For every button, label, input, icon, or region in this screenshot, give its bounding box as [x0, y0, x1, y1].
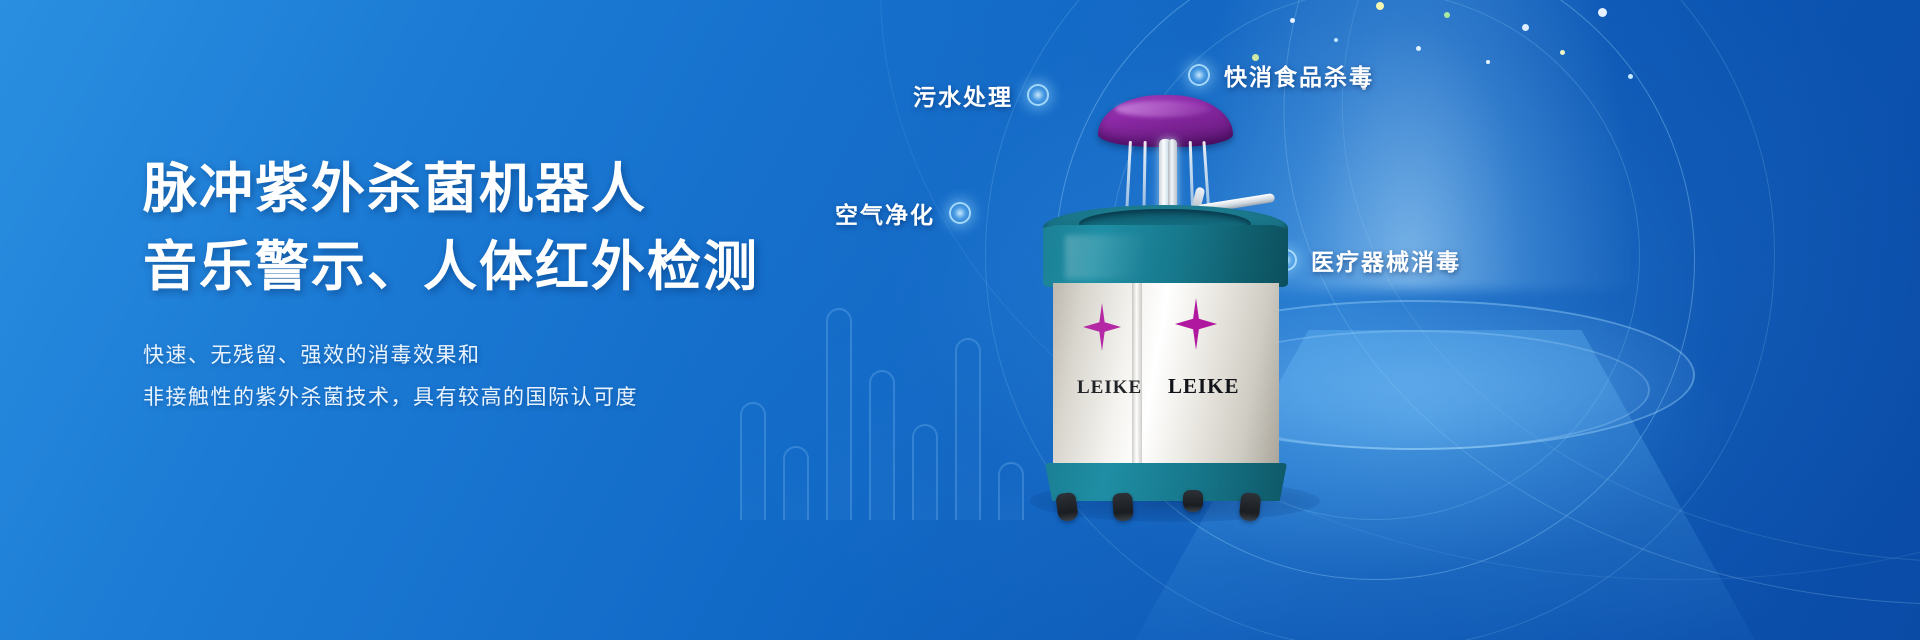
page-title-line1: 脉冲紫外杀菌机器人 — [143, 150, 843, 228]
subtitle-line2: 非接触性的紫外杀菌技术，具有较高的国际认可度 — [143, 376, 843, 418]
background-swoosh-arc — [1212, 0, 1920, 640]
equalizer-bar — [740, 402, 766, 520]
sparkle-dot — [1560, 50, 1565, 55]
feature-label-air-purification[interactable]: 空气净化 — [835, 196, 971, 230]
caster-wheel — [1112, 492, 1134, 521]
feature-label-text: 空气净化 — [835, 196, 935, 230]
feature-label-fast-food-disinfection[interactable]: 快消食品杀毒 — [1188, 58, 1374, 92]
brand-wordmark: LEIKE — [1168, 374, 1240, 399]
lamp-strut — [1125, 141, 1132, 215]
feature-label-text: 快消食品杀毒 — [1224, 58, 1374, 92]
sparkle-dot — [1290, 18, 1295, 23]
sparkle-dot — [1486, 60, 1490, 64]
hero-subtitle: 快速、无残留、强效的消毒效果和 非接触性的紫外杀菌技术，具有较高的国际认可度 — [143, 334, 843, 418]
feature-label-text: 污水处理 — [913, 78, 1013, 112]
uv-lamp-tube — [1168, 139, 1177, 213]
lamp-strut — [1142, 141, 1146, 215]
caster-wheel — [1055, 492, 1079, 523]
feature-label-sewage-treatment[interactable]: 污水处理 — [913, 78, 1049, 112]
hero-banner: 脉冲紫外杀菌机器人 音乐警示、人体红外检测 快速、无残留、强效的消毒效果和 非接… — [0, 0, 1920, 640]
sparkle-dot — [1376, 2, 1384, 10]
equalizer-bar — [869, 370, 895, 520]
hero-copy: 脉冲紫外杀菌机器人 音乐警示、人体红外检测 快速、无残留、强效的消毒效果和 非接… — [143, 150, 843, 418]
housing-panel-seam — [1132, 283, 1142, 468]
housing-highlight — [1065, 235, 1145, 279]
page-title-line2: 音乐警示、人体红外检测 — [143, 228, 843, 306]
marker-dot-icon — [1188, 64, 1210, 86]
subtitle-line1: 快速、无残留、强效的消毒效果和 — [143, 334, 843, 376]
sparkle-dot — [1444, 12, 1450, 18]
equalizer-bar — [955, 338, 981, 520]
sparkle-dot — [1598, 8, 1607, 17]
marker-dot-icon — [949, 202, 971, 224]
sparkle-dot — [1522, 24, 1529, 31]
sparkle-dot — [1334, 38, 1338, 42]
housing-panel — [1053, 283, 1279, 468]
equalizer-bar — [783, 446, 809, 520]
feature-label-text: 医疗器械消毒 — [1311, 243, 1461, 277]
sparkle-dot — [1628, 74, 1633, 79]
sparkle-dot — [1416, 46, 1421, 51]
feature-label-medical-device-disinfection[interactable]: 医疗器械消毒 — [1275, 243, 1461, 277]
equalizer-bar — [998, 462, 1024, 520]
brand-wordmark: LEIKE — [1077, 377, 1142, 399]
background-swoosh-arc — [1293, 0, 1920, 629]
product-image-uv-robot: LEIKE LEIKE — [1035, 95, 1295, 495]
lamp-dome-highlight — [1115, 101, 1210, 117]
equalizer-bar — [912, 424, 938, 520]
caster-wheel — [1183, 490, 1203, 512]
